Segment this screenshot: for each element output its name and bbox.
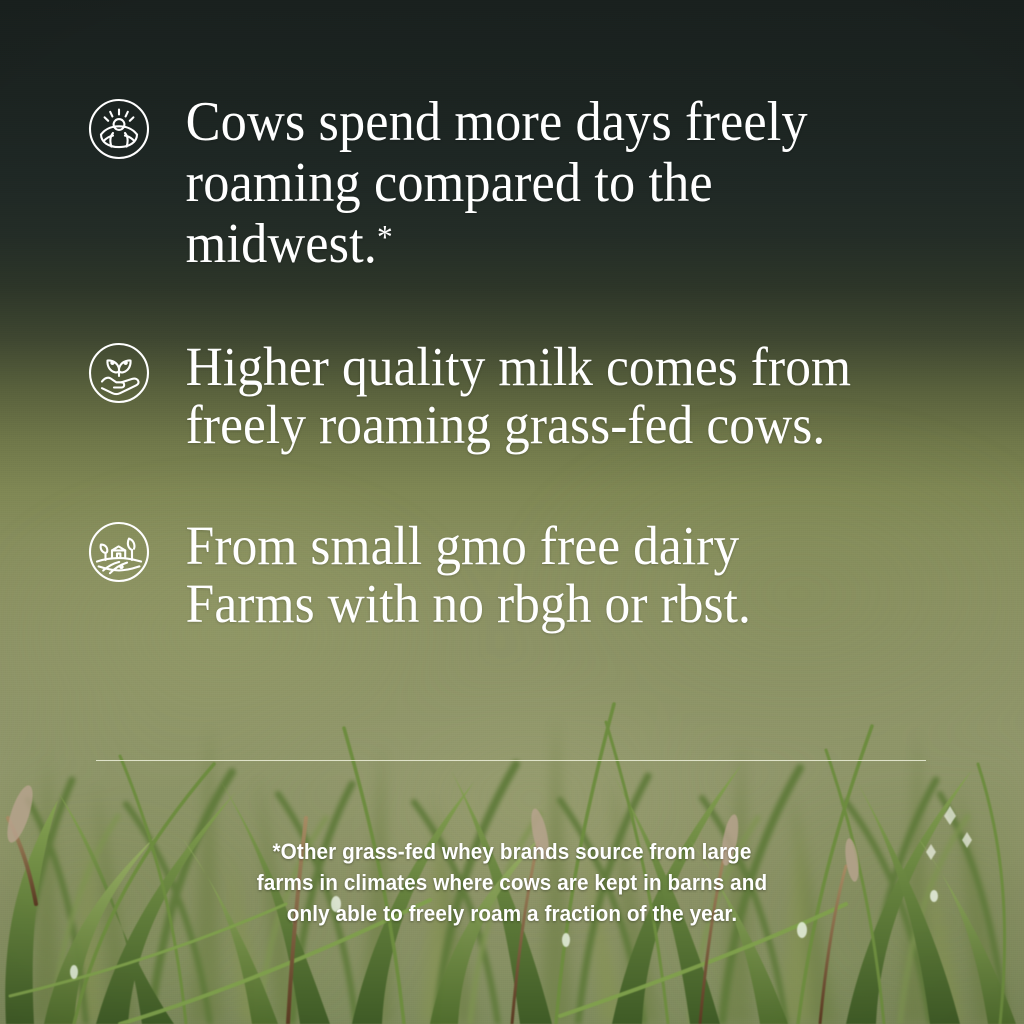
divider <box>96 760 926 761</box>
content-layer: Cows spend more days freely roaming comp… <box>0 0 1024 1024</box>
farm-barn-field-icon <box>86 519 152 585</box>
benefit-text-1: Cows spend more days freely roaming comp… <box>152 92 900 275</box>
benefit-item-2: Higher quality milk comes from freely ro… <box>86 340 978 455</box>
footnote: *Other grass-fed whey brands source from… <box>31 836 994 930</box>
benefit-item-3: From small gmo free dairy Farms with no … <box>86 519 978 634</box>
benefit-text-3: From small gmo free dairy Farms with no … <box>152 517 924 634</box>
promo-graphic: Cows spend more days freely roaming comp… <box>0 0 1024 1024</box>
benefit-item-1: Cows spend more days freely roaming comp… <box>86 96 978 275</box>
footnote-line-1: *Other grass-fed whey brands source from… <box>31 836 994 867</box>
footnote-line-2: farms in climates where cows are kept in… <box>31 867 994 898</box>
hand-holding-plant-icon <box>86 340 152 406</box>
footnote-marker: * <box>377 219 393 256</box>
footnote-line-3: only able to freely roam a fraction of t… <box>31 898 994 929</box>
sun-over-field-icon <box>86 96 152 162</box>
benefit-text-2: Higher quality milk comes from freely ro… <box>152 338 924 455</box>
